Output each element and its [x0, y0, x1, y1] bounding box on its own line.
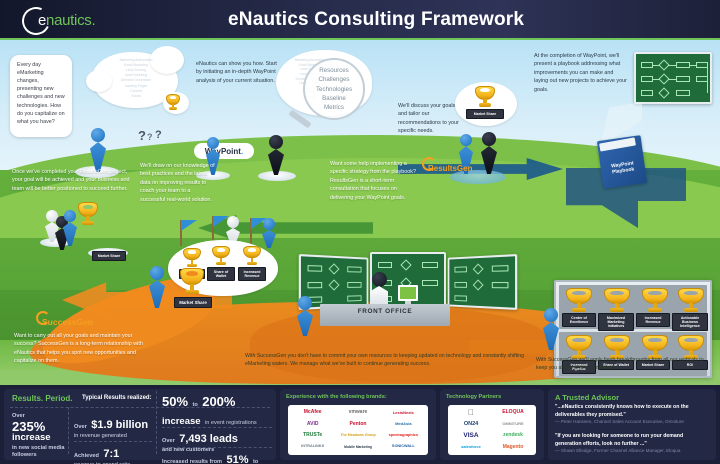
flow-edge: [653, 79, 660, 80]
trophy-cup: [678, 288, 704, 304]
figure-head: [207, 137, 219, 149]
logo-letter-e: e: [38, 12, 46, 29]
stat-2-value: $1.9 billion: [91, 419, 148, 431]
callout-step-8: Want to carry out all your goals and mai…: [14, 332, 144, 366]
partners-panel: Technology Partners  ELOQUA ON24 OMNITU…: [440, 389, 544, 460]
trophy-cup: [604, 335, 630, 351]
figure-blue-4: [62, 210, 78, 246]
trophy-case-item-1: [566, 288, 592, 314]
trophy-label-market-share-1: Market Share: [466, 109, 504, 119]
partners-logo-card:  ELOQUA ON24 OMNITURE VISA zendesk sale…: [448, 405, 536, 455]
flow-node-decision: [473, 279, 484, 290]
flow-node: [308, 265, 323, 272]
trophy-cup: [180, 268, 204, 285]
brand-logo-meadows: The Meadows Group: [336, 431, 379, 441]
advisor-panel: A Trusted Advisor "...eNautics consisten…: [548, 389, 716, 460]
resultsgen-logo[interactable]: ResultsGen: [428, 158, 500, 174]
callout-step-5: Once we've completed your ResultsGen pro…: [12, 168, 132, 193]
divider-v-2: [156, 391, 157, 454]
magnifier-item-challenges: Challenges: [306, 75, 362, 84]
figure-body: [268, 149, 284, 175]
trophy-cup: [183, 248, 201, 260]
figure-head: [91, 128, 105, 142]
trophy-cup: [243, 246, 261, 258]
testimonial-2-quote: "If you are looking for someone to run y…: [555, 433, 709, 448]
flow-node: [676, 90, 690, 96]
infographic-root: enautics. eNautics Consulting Framework …: [0, 0, 720, 464]
question-mark-icon-small: ?: [147, 132, 153, 142]
divider-h-3: [162, 427, 272, 428]
partner-logo-eloqua: ELOQUA: [493, 408, 533, 418]
trophy-base: [648, 308, 663, 312]
results-panel: Results. Period. Typical Results realize…: [0, 385, 720, 464]
stat-3-pre: Achieved: [74, 453, 99, 459]
trophy-base: [169, 107, 177, 110]
trophy-base: [185, 290, 198, 294]
results-stats-panel: Results. Period. Typical Results realize…: [4, 389, 276, 460]
resultsgen-arc-icon: [422, 157, 436, 171]
figure-head: [269, 135, 283, 149]
testimonial-1-attrib: — Peter Hanssen, Channel Sales Account E…: [555, 419, 709, 425]
book-title: WayPoint Playbook: [604, 159, 642, 184]
stat-6-mid: to: [253, 459, 258, 464]
figure-body: [370, 286, 388, 304]
flow-node: [308, 282, 323, 288]
divider-v-1: [68, 407, 69, 454]
successgen-arc-icon: [36, 311, 50, 325]
figure-head: [460, 134, 472, 146]
flow-edge: [653, 65, 660, 66]
trophy-case-item-2: [604, 288, 630, 314]
brand-logo-lexisnexis: LexisNexis: [382, 408, 425, 418]
trophy-hole: [648, 291, 661, 296]
stat-card-2: Over $1.9 billion in revenue generated: [74, 415, 152, 440]
trophy-base: [247, 262, 257, 265]
flow-node: [347, 295, 361, 301]
figure-head: [263, 218, 275, 230]
figure-blue-1: [89, 128, 107, 172]
trophy-hole: [83, 205, 93, 209]
book-pages: [599, 137, 636, 151]
stat-4-post2: in event registrations: [205, 420, 257, 426]
stat-6-pre: Increased results from: [162, 459, 222, 464]
playbook-flowchart-board: [634, 52, 712, 104]
trophy-share-of-wallet: [212, 246, 230, 266]
figure-head: [372, 272, 387, 287]
trophy-base: [82, 221, 93, 225]
brands-panel: Experience with the following brands: Mc…: [280, 389, 436, 460]
stat-card-3: Achieved 7:1 revenue-to-spend ratio: [74, 444, 152, 464]
trophy-base: [610, 308, 625, 312]
stat-5-pre: Over: [162, 438, 175, 444]
trophy-case-item-4: [678, 288, 704, 314]
callout-step-3: We'll discuss your goals and tailor our …: [398, 102, 460, 136]
front-office-board-right: [448, 254, 518, 310]
flow-node: [347, 282, 361, 288]
testimonial-2: "If you are looking for someone to run y…: [555, 433, 709, 454]
brand-logo-vmware: vmware: [336, 408, 379, 418]
partner-logo-omniture: OMNITURE: [493, 420, 533, 430]
brand-logo-intralinks: INTRALINKS: [291, 443, 334, 453]
trophy-hole: [572, 338, 585, 343]
callout-step-8-text: Want to carry out all your goals and mai…: [14, 333, 143, 364]
front-office-sign: FRONT OFFICE: [320, 308, 450, 315]
trophy-increased-revenue: [243, 246, 261, 266]
callout-step-2-text: eNautics can show you how. Start by init…: [196, 61, 277, 84]
trophy-market-share-3: [180, 268, 204, 296]
trophy-cup: [566, 288, 592, 304]
magnifier-item-baseline: Baseline: [306, 94, 362, 103]
results-subtitle: Typical Results realized:: [82, 395, 152, 401]
callout-step-3-text: We'll discuss your goals and tailor our …: [398, 103, 459, 134]
successgen-logo[interactable]: SuccessGen: [42, 312, 132, 328]
partner-logo-apple: : [451, 408, 491, 418]
figure-blue-7: [296, 296, 314, 336]
trophy-cup: [212, 246, 230, 258]
flow-node: [454, 295, 466, 301]
page-title: eNautics Consulting Framework: [228, 9, 524, 31]
flow-node: [492, 282, 509, 288]
trophy-hole: [684, 291, 697, 296]
flow-node: [422, 262, 438, 268]
caption-right-text: With SuccessGen we'll apply fresh breakt…: [536, 357, 704, 371]
partner-logo-on24: ON24: [451, 420, 491, 430]
results-title: Results. Period.: [12, 394, 72, 403]
testimonial-1: "...eNautics consistently knows how to e…: [555, 404, 709, 425]
brand-logo-avid: AVID: [291, 420, 334, 430]
callout-step-7-text: Want some help implementing a specific s…: [330, 161, 416, 201]
stat-4-value2: 200%: [202, 394, 235, 409]
figure-body: [262, 230, 276, 248]
trophy-market-share-2: [78, 202, 98, 226]
stat-5-value: 7,493 leads: [179, 433, 238, 445]
trophy-base: [572, 308, 587, 312]
figure-blue-8: [542, 308, 560, 350]
flow-node-decision: [658, 87, 669, 98]
trophy-cup: [642, 288, 668, 304]
callout-step-6: We'll draw on our knowledge of best prac…: [140, 162, 216, 204]
question-mark-icon-2: ?: [155, 129, 162, 141]
callout-step-2: eNautics can show you how. Start by init…: [196, 60, 278, 85]
trophy-hole: [572, 291, 585, 296]
stat-1-post: in new social media followers: [12, 445, 66, 459]
figure-head: [482, 132, 496, 146]
brand-logo-mobile-marketing: Mobile Marketing: [336, 443, 379, 453]
flow-node: [378, 262, 392, 268]
trophy-hole: [648, 338, 661, 343]
trophy-cup: [642, 335, 668, 351]
callout-step-1-text: Every day eMarketing changes, presenting…: [17, 62, 65, 125]
flow-node: [676, 76, 690, 82]
logo-word: nautics: [46, 12, 91, 29]
flow-node-decision: [329, 279, 340, 290]
testimonial-1-quote: "...eNautics consistently knows how to e…: [555, 404, 709, 419]
stat-6-value: 51%: [226, 454, 248, 464]
trophy-label-share-of-wallet: Share of Wallet: [207, 267, 235, 281]
figure-agent: [370, 272, 388, 302]
caption-center: With SuccessGen you don't have to commit…: [245, 352, 535, 369]
trophy-roi: [183, 248, 201, 268]
flow-node-decision: [473, 263, 484, 274]
trophy-hole: [610, 338, 623, 343]
brand-logo-mcafee: McAfee: [291, 408, 334, 418]
waypoint-playbook-book: WayPoint Playbook: [597, 135, 647, 189]
magnifier-item-metrics: Metrics: [306, 103, 362, 112]
caption-center-text: With SuccessGen you don't have to commit…: [245, 353, 524, 367]
trophy-base: [684, 308, 699, 312]
trophy-case-label-4: Actionable Business Intelligence: [672, 313, 708, 331]
stat-2-post: in revenue generated: [74, 433, 152, 440]
trophy-cup: [566, 335, 592, 351]
trophy-base: [187, 264, 197, 267]
magnifier-item-resources: Resources: [306, 66, 362, 75]
advisor-title: A Trusted Advisor: [555, 393, 619, 402]
figure-blue-6: [148, 266, 166, 308]
trophy-hole: [186, 271, 198, 276]
flow-node: [676, 62, 690, 68]
logo-text: enautics.: [38, 12, 95, 29]
trophy-case-item-3: [642, 288, 668, 314]
flow-edge: [690, 65, 696, 66]
monitor-icon: [398, 285, 418, 301]
stat-card-1: Over 235% increase in new social media f…: [12, 413, 66, 459]
trophy-hole: [248, 248, 257, 252]
stat-4-post: increase: [162, 416, 201, 427]
trophy-hole: [480, 88, 490, 92]
stat-4-mid: to: [192, 402, 197, 408]
flow-edge: [668, 65, 676, 66]
flow-edge: [707, 65, 708, 93]
divider-h-4: [162, 447, 272, 448]
brand-logo-penton: Penton: [336, 420, 379, 430]
trophy-cup: [678, 335, 704, 351]
flow-node: [492, 265, 509, 272]
enautics-logo[interactable]: enautics.: [22, 6, 127, 36]
divider-h-2: [74, 441, 152, 442]
page-header: enautics. eNautics Consulting Framework: [0, 0, 720, 40]
callout-step-4: At the completion of WayPoint, we'll pre…: [534, 52, 628, 94]
partner-logo-salesforce: salesforce: [451, 443, 491, 453]
trophy-hole: [188, 250, 197, 254]
trophy-base: [216, 262, 226, 265]
flow-node: [347, 266, 361, 272]
trophy-hole: [610, 291, 623, 296]
figure-body: [149, 280, 165, 308]
flow-node: [641, 76, 653, 82]
brands-title: Experience with the following brands:: [286, 394, 387, 400]
trophy-cup: [475, 86, 495, 100]
waypoint-logo-dot: .: [241, 147, 243, 156]
brand-logo-spectragraphics: spectragraphics: [382, 431, 425, 441]
waypoint-logo-badge[interactable]: WayPoint .: [194, 143, 254, 159]
figure-body: [297, 310, 313, 336]
figure-body: [543, 322, 559, 350]
flow-node-decision: [400, 259, 411, 270]
trophy-idea: [166, 94, 180, 111]
flow-edge: [668, 79, 676, 80]
trophy-case-label-1: Center of Excellence: [562, 313, 596, 327]
partner-logo-zendesk: zendesk: [493, 431, 533, 441]
stat-1-value2: increase: [12, 433, 66, 443]
stat-4-value: 50%: [162, 394, 188, 409]
trophy-cup: [78, 202, 98, 217]
thought-cloud-words: Marketing Automation Email Marketing Lea…: [100, 58, 172, 104]
partners-title: Technology Partners: [446, 394, 501, 400]
trophy-case-label-2: Maximized Marketing Initiatives: [598, 313, 634, 331]
callout-step-4-text: At the completion of WayPoint, we'll pre…: [534, 53, 627, 93]
figure-blue-5: [262, 218, 276, 248]
stat-card-6: Increased results from 51% to 73%: [162, 450, 274, 464]
flow-node: [454, 266, 466, 272]
magnifier-item-technologies: Technologies: [306, 85, 362, 94]
brands-logo-card: McAfee vmware LexisNexis AVID Penton Med…: [288, 405, 428, 455]
trophy-label-increased-revenue: Increased Revenue: [238, 267, 266, 281]
magnifier-items: Resources Challenges Technologies Baseli…: [306, 66, 362, 114]
caption-right: With SuccessGen we'll apply fresh breakt…: [536, 356, 714, 373]
trophy-cup: [604, 288, 630, 304]
flow-node: [641, 62, 653, 68]
kw-7: Social: [100, 94, 172, 99]
flow-node: [422, 280, 438, 286]
brand-logo-truste: TRUSTe: [291, 431, 334, 441]
brand-logo-medasia: MedAsia: [382, 420, 425, 430]
flow-node-decision: [329, 263, 340, 274]
partner-logo-visa: VISA: [451, 431, 491, 441]
logo-period: .: [91, 12, 95, 29]
figure-head: [150, 266, 164, 280]
figure-head: [544, 308, 558, 322]
stat-card-4: 50% to 200% increase in event registrati…: [162, 393, 272, 429]
figure-dark-1: [267, 135, 285, 175]
trophy-case-label-3: Increased Revenue: [636, 313, 670, 327]
flow-node: [641, 90, 653, 96]
callout-step-6-text: We'll draw on our knowledge of best prac…: [140, 163, 215, 203]
trophy-label-market-share-2: Market Share: [92, 251, 126, 261]
trophy-hole: [684, 338, 697, 343]
testimonial-2-attrib: — Shawn Elledge, Former Channel Alliance…: [555, 448, 709, 454]
brand-logo-sonicwall: SONICWALL: [382, 443, 425, 453]
trophy-base: [479, 103, 490, 107]
callout-step-1: Every day eMarketing changes, presenting…: [10, 55, 72, 137]
question-mark-icon: ?: [138, 128, 146, 143]
partner-logo-magento: Magento: [493, 443, 533, 453]
callout-step-7: Want some help implementing a specific s…: [330, 160, 418, 202]
trophy-label-market-share-3: Market Share: [174, 297, 212, 308]
stat-3-value: 7:1: [103, 448, 119, 460]
figure-head: [227, 216, 239, 228]
callout-step-5-text: Once we've completed your ResultsGen pro…: [12, 169, 129, 192]
stat-2-pre: Over: [74, 424, 87, 430]
figure-head: [298, 296, 312, 310]
figure-head: [64, 210, 76, 222]
figure-body: [63, 222, 77, 246]
framework-illustration: Every day eMarketing changes, presenting…: [0, 40, 720, 385]
trophy-hole: [217, 248, 226, 252]
trophy-market-share-1: [475, 86, 495, 108]
trophy-hole: [170, 96, 177, 99]
flow-node: [454, 282, 466, 288]
